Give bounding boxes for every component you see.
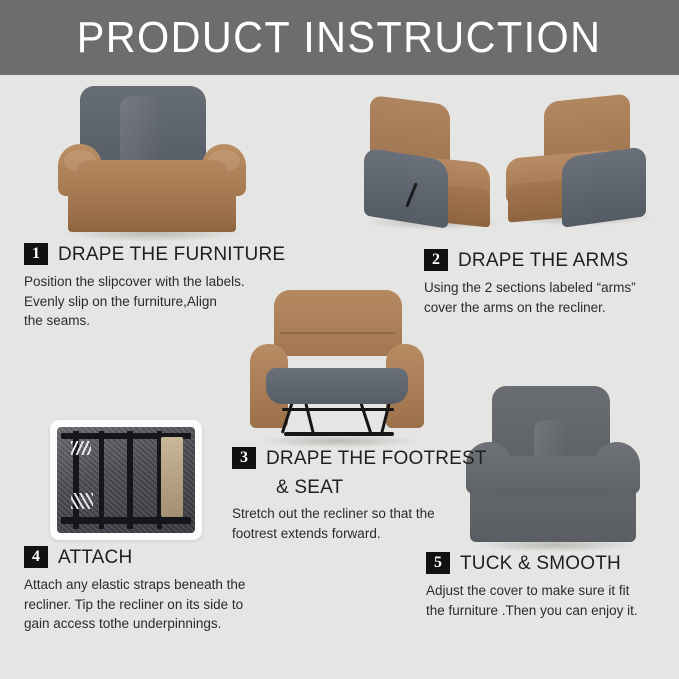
step-2-block: 2 DRAPE THE ARMS Using the 2 sections la… [424,249,636,317]
chair-backrest [274,290,402,356]
step-2-image-two-recliners-with-gray-arm-covers [358,92,670,240]
mechanism-bar [282,408,394,411]
elastic-strap [71,493,93,509]
step-2-body-line: cover the arms on the recliner. [424,298,636,318]
wood-slat [161,437,183,517]
step-5-body: Adjust the cover to make sure it fit the… [426,581,638,620]
step-2-heading: 2 DRAPE THE ARMS [424,249,636,271]
step-4-body-line: recliner. Tip the recliner on its side t… [24,595,245,615]
step-1-block: 1 DRAPE THE FURNITURE Position the slipc… [24,243,285,331]
recliner-mechanism [278,400,398,440]
step-5-block: 5 TUCK & SMOOTH Adjust the cover to make… [426,552,638,620]
mechanism-bar [281,400,294,433]
instruction-infographic: PRODUCT INSTRUCTION [0,0,679,679]
step-4-number-badge: 4 [24,546,48,568]
underside-frame [57,427,195,533]
step-3-title: DRAPE THE FOOTREST [266,449,487,468]
step-5-number-badge: 5 [426,552,450,574]
step-5-heading: 5 TUCK & SMOOTH [426,552,638,574]
step-4-heading: 4 ATTACH [24,546,245,568]
step-1-body-line: Evenly slip on the furniture,Align [24,292,285,312]
step-3-heading: 3 DRAPE THE FOOTREST [232,447,487,469]
step-3-number-badge: 3 [232,447,256,469]
step-2-title: DRAPE THE ARMS [458,251,628,270]
step-1-number-badge: 1 [24,243,48,265]
step-4-body-line: Attach any elastic straps beneath the [24,575,245,595]
step-5-title: TUCK & SMOOTH [460,554,621,573]
chair-seat [76,160,228,202]
mechanism-bar [380,402,391,434]
backrest-seam [280,332,396,334]
step-1-body-line: Position the slipcover with the labels. [24,272,285,292]
step-4-image-recliner-underside-frame-photo [50,420,202,540]
fabric-highlight [120,96,164,170]
step-4-body-line: gain access tothe underpinnings. [24,614,245,634]
step-1-title: DRAPE THE FURNITURE [58,245,285,264]
right-chair-gray-arm-cover [562,146,646,228]
mechanism-bar [304,402,315,434]
header-banner: PRODUCT INSTRUCTION [0,0,679,75]
frame-bar [127,431,133,529]
step-4-block: 4 ATTACH Attach any elastic straps benea… [24,546,245,634]
mechanism-bar [359,400,372,433]
left-chair-gray-arm-cover [364,147,448,228]
step-1-heading: 1 DRAPE THE FURNITURE [24,243,285,265]
step-2-body-line: Using the 2 sections labeled “arms” [424,278,636,298]
gray-footrest-cover [266,368,408,404]
step-3-title-line2: & SEAT [276,478,487,497]
frame-rail [61,517,191,524]
step-1-body-line: the seams. [24,311,285,331]
step-1-body: Position the slipcover with the labels. … [24,272,285,331]
covered-seat [492,456,614,496]
step-4-title: ATTACH [58,548,132,567]
step-4-body: Attach any elastic straps beneath the re… [24,575,245,634]
step-3-block: 3 DRAPE THE FOOTREST & SEAT Stretch out … [232,447,487,543]
step-2-body: Using the 2 sections labeled “arms” cove… [424,278,636,317]
step-3-body: Stretch out the recliner so that the foo… [232,504,487,543]
mechanism-bar [284,432,394,436]
step-3-body-line: footrest extends forward. [232,524,487,544]
step-5-body-line: Adjust the cover to make sure it fit [426,581,638,601]
step-2-number-badge: 2 [424,249,448,271]
frame-bar [99,431,104,529]
step-3-body-line: Stretch out the recliner so that the [232,504,487,524]
step-1-image-recliner-with-gray-back-cover [52,82,252,242]
elastic-strap [71,441,91,455]
step-5-body-line: the furniture .Then you can enjoy it. [426,601,638,621]
page-title: PRODUCT INSTRUCTION [77,16,602,60]
